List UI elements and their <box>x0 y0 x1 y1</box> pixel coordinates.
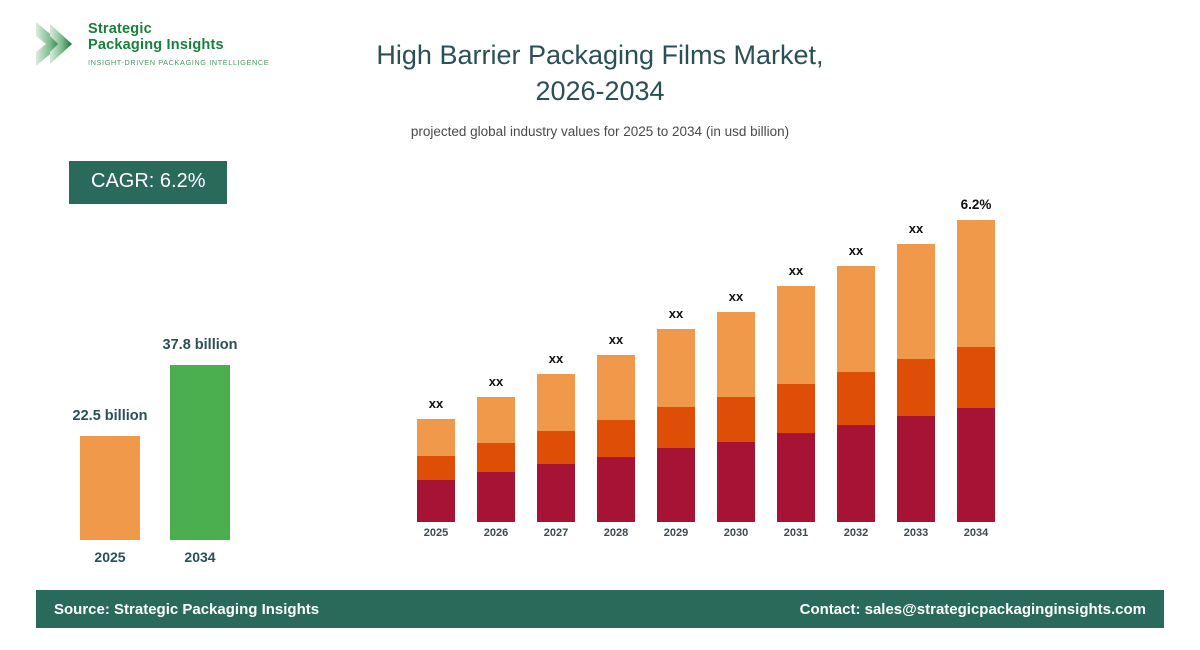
forecast-segment-segment-3-2026 <box>477 397 515 443</box>
forecast-segment-segment-3-2028 <box>597 355 635 420</box>
forecast-segment-segment-3-2034 <box>957 220 995 347</box>
forecast-value-label-2029: xx <box>669 306 683 321</box>
forecast-bar-2032: xx2032 <box>837 266 875 522</box>
logo-line-2: Packaging Insights <box>88 38 269 54</box>
forecast-segment-segment-2-2034 <box>957 347 995 408</box>
forecast-value-label-2030: xx <box>729 289 743 304</box>
forecast-value-label-2031: xx <box>789 263 803 278</box>
forecast-axis-label-2026: 2026 <box>484 527 508 539</box>
forecast-bar-2031: xx2031 <box>777 286 815 522</box>
page-subtitle: projected global industry values for 202… <box>300 124 900 139</box>
forecast-segment-segment-2-2031 <box>777 384 815 433</box>
comparison-bar-rect-2034 <box>170 365 230 540</box>
logo-tagline: INSIGHT-DRIVEN PACKAGING INTELLIGENCE <box>88 58 269 67</box>
forecast-axis-label-2031: 2031 <box>784 527 808 539</box>
forecast-segment-segment-1-2032 <box>837 425 875 522</box>
forecast-bar-2028: xx2028 <box>597 355 635 522</box>
comparison-bar-rect-2025 <box>80 436 140 540</box>
forecast-segment-segment-3-2029 <box>657 329 695 407</box>
forecast-segment-segment-2-2029 <box>657 407 695 448</box>
forecast-axis-label-2028: 2028 <box>604 527 628 539</box>
forecast-value-label-2027: xx <box>549 351 563 366</box>
forecast-axis-label-2030: 2030 <box>724 527 748 539</box>
forecast-segment-segment-1-2031 <box>777 433 815 522</box>
forecast-segment-segment-2-2027 <box>537 431 575 464</box>
forecast-bar-2034: 6.2%2034 <box>957 220 995 522</box>
forecast-segment-segment-1-2029 <box>657 448 695 522</box>
forecast-value-label-2033: xx <box>909 221 923 236</box>
chevron-right-icon <box>32 18 80 70</box>
forecast-value-label-2026: xx <box>489 374 503 389</box>
forecast-value-label-2034: 6.2% <box>961 197 992 212</box>
page-title: High Barrier Packaging Films Market, 202… <box>300 38 900 139</box>
forecast-segment-segment-3-2033 <box>897 244 935 359</box>
forecast-segment-segment-2-2026 <box>477 443 515 472</box>
footer-source: Source: Strategic Packaging Insights <box>54 601 319 618</box>
forecast-bar-2027: xx2027 <box>537 374 575 522</box>
comparison-bar-2034: 37.8 billion 2034 <box>170 365 230 540</box>
comparison-value-2025: 22.5 billion <box>73 408 148 424</box>
start-end-comparison-chart: 22.5 billion 2025 37.8 billion 2034 <box>55 300 295 570</box>
logo-wordmark: Strategic Packaging Insights INSIGHT-DRI… <box>88 18 269 67</box>
forecast-segment-segment-1-2033 <box>897 416 935 522</box>
cagr-badge: CAGR: 6.2% <box>69 161 227 204</box>
forecast-bar-2025: xx2025 <box>417 419 455 522</box>
forecast-axis-label-2032: 2032 <box>844 527 868 539</box>
forecast-axis-label-2027: 2027 <box>544 527 568 539</box>
forecast-bar-2030: xx2030 <box>717 312 755 522</box>
forecast-value-label-2032: xx <box>849 243 863 258</box>
title-line-1: High Barrier Packaging Films Market, <box>300 38 900 74</box>
comparison-label-2034: 2034 <box>184 549 215 565</box>
comparison-label-2025: 2025 <box>94 549 125 565</box>
footer-contact: Contact: sales@strategicpackaginginsight… <box>800 601 1146 618</box>
segmented-forecast-chart: xx2025xx2026xx2027xx2028xx2029xx2030xx20… <box>410 200 1010 545</box>
forecast-segment-segment-2-2025 <box>417 456 455 480</box>
forecast-segment-segment-2-2028 <box>597 420 635 457</box>
forecast-segment-segment-1-2025 <box>417 480 455 522</box>
logo-line-1: Strategic <box>88 22 269 38</box>
forecast-segment-segment-3-2025 <box>417 419 455 456</box>
forecast-segment-segment-3-2032 <box>837 266 875 372</box>
forecast-value-label-2025: xx <box>429 396 443 411</box>
forecast-segment-segment-1-2034 <box>957 408 995 522</box>
title-line-2: 2026-2034 <box>300 74 900 110</box>
forecast-segment-segment-3-2030 <box>717 312 755 397</box>
forecast-segment-segment-3-2027 <box>537 374 575 431</box>
forecast-axis-label-2029: 2029 <box>664 527 688 539</box>
footer-bar: Source: Strategic Packaging Insights Con… <box>36 590 1164 628</box>
forecast-axis-label-2025: 2025 <box>424 527 448 539</box>
forecast-segment-segment-1-2028 <box>597 457 635 522</box>
forecast-segment-segment-2-2033 <box>897 359 935 416</box>
forecast-segment-segment-2-2030 <box>717 397 755 442</box>
forecast-bar-2029: xx2029 <box>657 329 695 522</box>
forecast-axis-label-2033: 2033 <box>904 527 928 539</box>
forecast-axis-label-2034: 2034 <box>964 527 988 539</box>
comparison-value-2034: 37.8 billion <box>163 337 238 353</box>
brand-logo: Strategic Packaging Insights INSIGHT-DRI… <box>32 18 269 70</box>
forecast-segment-segment-1-2030 <box>717 442 755 522</box>
forecast-bar-2026: xx2026 <box>477 397 515 522</box>
forecast-segment-segment-3-2031 <box>777 286 815 384</box>
forecast-value-label-2028: xx <box>609 332 623 347</box>
forecast-bar-2033: xx2033 <box>897 244 935 522</box>
forecast-segment-segment-2-2032 <box>837 372 875 425</box>
forecast-segment-segment-1-2027 <box>537 464 575 522</box>
comparison-bar-2025: 22.5 billion 2025 <box>80 436 140 540</box>
forecast-segment-segment-1-2026 <box>477 472 515 522</box>
